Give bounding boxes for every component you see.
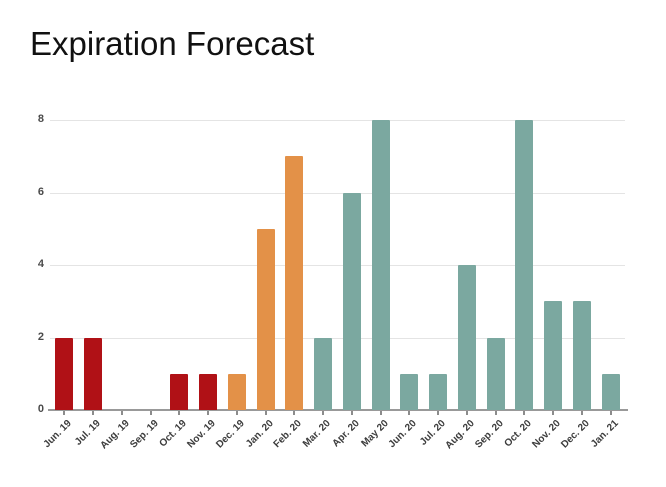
y-tick-label-8: 8 xyxy=(4,113,44,125)
bar-jul-19[interactable] xyxy=(84,338,102,411)
x-tick-mark-15 xyxy=(495,411,497,415)
bar-nov-20[interactable] xyxy=(544,301,562,410)
chart-title: Expiration Forecast xyxy=(30,24,314,64)
x-tick-mark-14 xyxy=(466,411,468,415)
bar-series xyxy=(50,115,625,410)
y-tick-label-4: 4 xyxy=(4,258,44,270)
bar-jun-19[interactable] xyxy=(55,338,73,411)
bar-feb-20[interactable] xyxy=(285,156,303,410)
x-tick-mark-19 xyxy=(610,411,612,415)
bar-aug-20[interactable] xyxy=(458,265,476,410)
bar-sep-20[interactable] xyxy=(487,338,505,411)
bar-may-20[interactable] xyxy=(372,120,390,410)
x-tick-mark-16 xyxy=(523,411,525,415)
bar-oct-19[interactable] xyxy=(170,374,188,410)
x-tick-mark-9 xyxy=(322,411,324,415)
x-tick-mark-1 xyxy=(92,411,94,415)
y-tick-label-6: 6 xyxy=(4,186,44,198)
bar-jan-21[interactable] xyxy=(602,374,620,410)
x-tick-mark-18 xyxy=(581,411,583,415)
x-tick-mark-3 xyxy=(150,411,152,415)
expiration-forecast-chart: Expiration Forecast 02468 Jun. 19Jul. 19… xyxy=(0,0,666,487)
bar-dec-20[interactable] xyxy=(573,301,591,410)
x-tick-mark-2 xyxy=(121,411,123,415)
bar-mar-20[interactable] xyxy=(314,338,332,411)
x-tick-mark-17 xyxy=(552,411,554,415)
x-tick-mark-6 xyxy=(236,411,238,415)
x-tick-mark-4 xyxy=(178,411,180,415)
bar-jun-20[interactable] xyxy=(400,374,418,410)
bar-dec-19[interactable] xyxy=(228,374,246,410)
x-tick-mark-10 xyxy=(351,411,353,415)
x-tick-mark-0 xyxy=(63,411,65,415)
bar-jan-20[interactable] xyxy=(257,229,275,410)
y-tick-label-0: 0 xyxy=(4,403,44,415)
x-tick-mark-12 xyxy=(408,411,410,415)
x-tick-mark-13 xyxy=(437,411,439,415)
x-tick-mark-11 xyxy=(380,411,382,415)
bar-oct-20[interactable] xyxy=(515,120,533,410)
y-tick-label-2: 2 xyxy=(4,331,44,343)
x-tick-mark-5 xyxy=(207,411,209,415)
bar-apr-20[interactable] xyxy=(343,193,361,411)
bar-nov-19[interactable] xyxy=(199,374,217,410)
x-tick-mark-7 xyxy=(265,411,267,415)
bar-jul-20[interactable] xyxy=(429,374,447,410)
x-tick-mark-8 xyxy=(293,411,295,415)
